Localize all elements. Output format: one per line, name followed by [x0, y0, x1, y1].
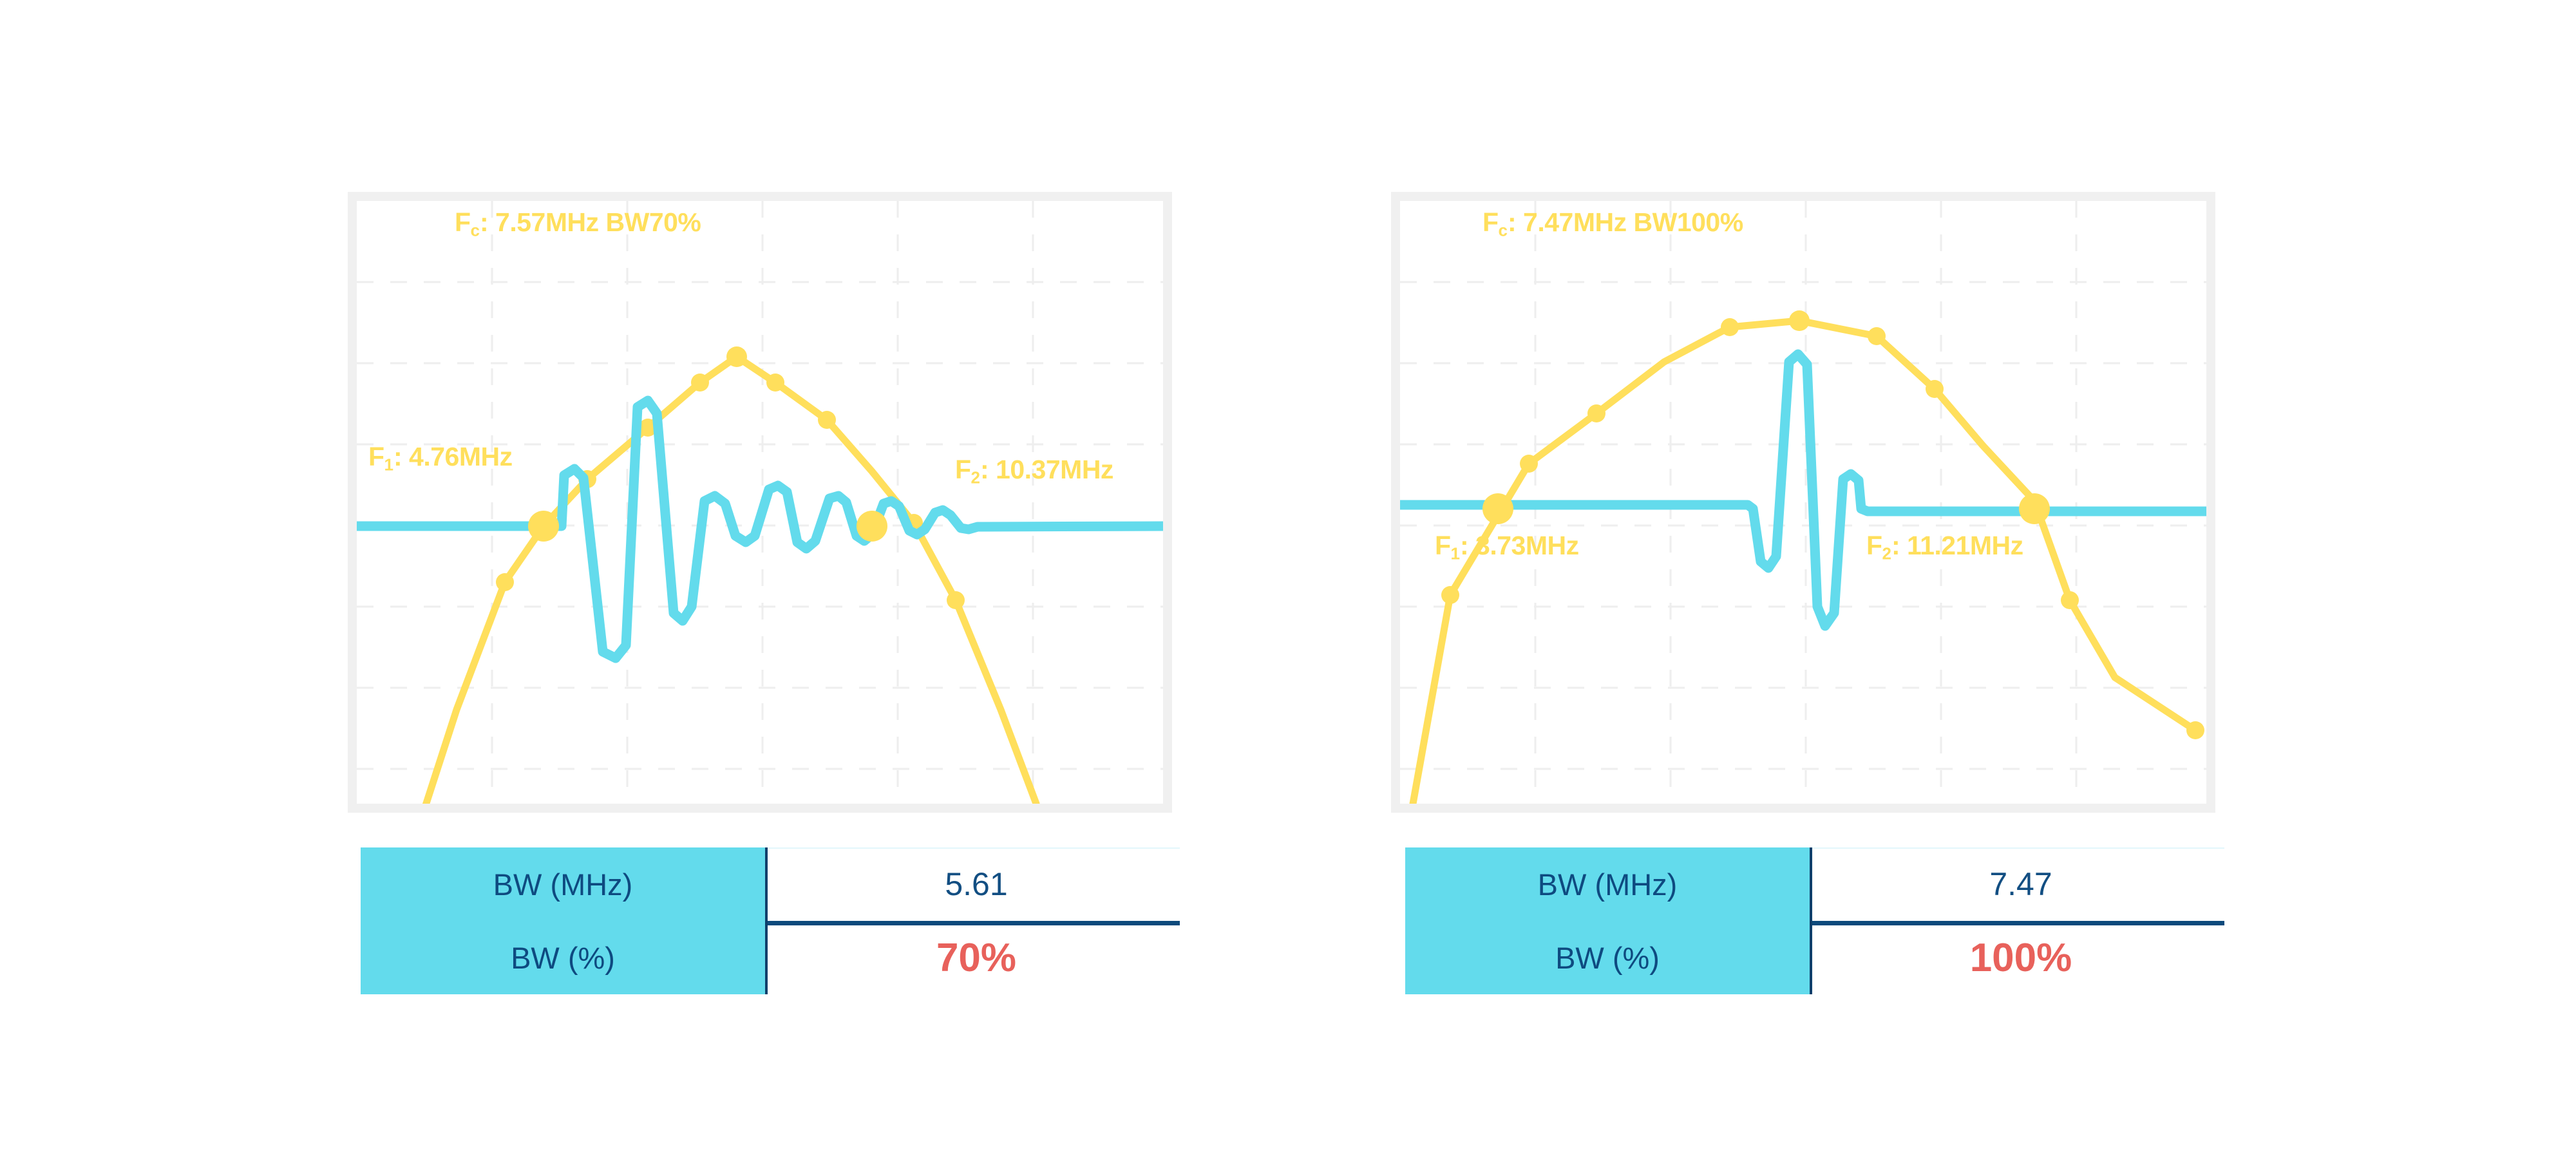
- f2-symbol: F: [1866, 531, 1882, 560]
- table-row: BW (%) 100%: [1405, 921, 2230, 994]
- f2-symbol: F: [955, 455, 971, 484]
- row-value-bw-percent: 70%: [768, 921, 1185, 994]
- bandwidth-table-right: BW (MHz) 7.47 BW (%) 100%: [1405, 847, 2230, 994]
- pulse-waveform: [1400, 354, 2206, 626]
- spectrum-markers: [1441, 310, 2204, 739]
- gridlines: [357, 201, 1163, 804]
- spectrum-chart-left: [348, 192, 1172, 813]
- row-value-bw-mhz: 7.47: [1812, 847, 2230, 921]
- plot-area-right: [1400, 201, 2206, 804]
- f1-marker: [1482, 493, 1513, 524]
- row-label-bw-mhz: BW (MHz): [1405, 847, 1812, 921]
- f2-subscript: 2: [971, 468, 980, 487]
- row-value-bw-mhz: 5.61: [768, 847, 1185, 921]
- row-label-bw-mhz: BW (MHz): [361, 847, 768, 921]
- fc-symbol: F: [455, 207, 471, 237]
- f1-subscript: 1: [384, 455, 393, 474]
- table-row: BW (%) 70%: [361, 921, 1185, 994]
- f1-text: : 3.73MHz: [1460, 531, 1579, 560]
- f2-annotation-left: F2: 10.37MHz: [955, 455, 1113, 487]
- f1-marker: [528, 511, 559, 542]
- f2-annotation-right: F2: 11.21MHz: [1866, 531, 2023, 563]
- row-label-bw-percent: BW (%): [361, 921, 768, 994]
- f1-annotation-left: F1: 4.76MHz: [368, 442, 513, 475]
- f1-symbol: F: [368, 442, 384, 471]
- table-row: BW (MHz) 7.47: [1405, 847, 2230, 921]
- row-label-bw-percent: BW (%): [1405, 921, 1812, 994]
- fc-text: : 7.47MHz BW100%: [1508, 207, 1743, 237]
- bandwidth-70-panel: Fc: 7.57MHz BW70% F1: 4.76MHz F2: 10.37M…: [0, 0, 1288, 1154]
- table-row: BW (MHz) 5.61: [361, 847, 1185, 921]
- pulse-waveform: [357, 401, 1163, 658]
- f2-text: : 10.37MHz: [980, 455, 1113, 484]
- row-value-bw-percent: 100%: [1812, 921, 2230, 994]
- f1-symbol: F: [1435, 531, 1451, 560]
- fc-subscript: c: [471, 220, 480, 240]
- bandwidth-100-panel: Fc: 7.47MHz BW100% F1: 3.73MHz F2: 11.21…: [1288, 0, 2576, 1154]
- f2-text: : 11.21MHz: [1891, 531, 2023, 560]
- fc-symbol: F: [1482, 207, 1499, 237]
- f1-subscript: 1: [1451, 544, 1460, 563]
- f2-marker: [857, 511, 887, 542]
- f1-annotation-right: F1: 3.73MHz: [1435, 531, 1579, 563]
- fc-annotation-right: Fc: 7.47MHz BW100%: [1482, 207, 1743, 240]
- f1-text: : 4.76MHz: [393, 442, 513, 471]
- plot-area-left: [357, 201, 1163, 804]
- f2-marker: [2019, 493, 2050, 524]
- f2-subscript: 2: [1882, 544, 1891, 563]
- fc-annotation-left: Fc: 7.57MHz BW70%: [455, 207, 701, 240]
- fc-subscript: c: [1499, 220, 1508, 240]
- fc-text: : 7.57MHz BW70%: [480, 207, 701, 237]
- bandwidth-table-left: BW (MHz) 5.61 BW (%) 70%: [361, 847, 1185, 994]
- spectrum-chart-right: [1391, 192, 2215, 813]
